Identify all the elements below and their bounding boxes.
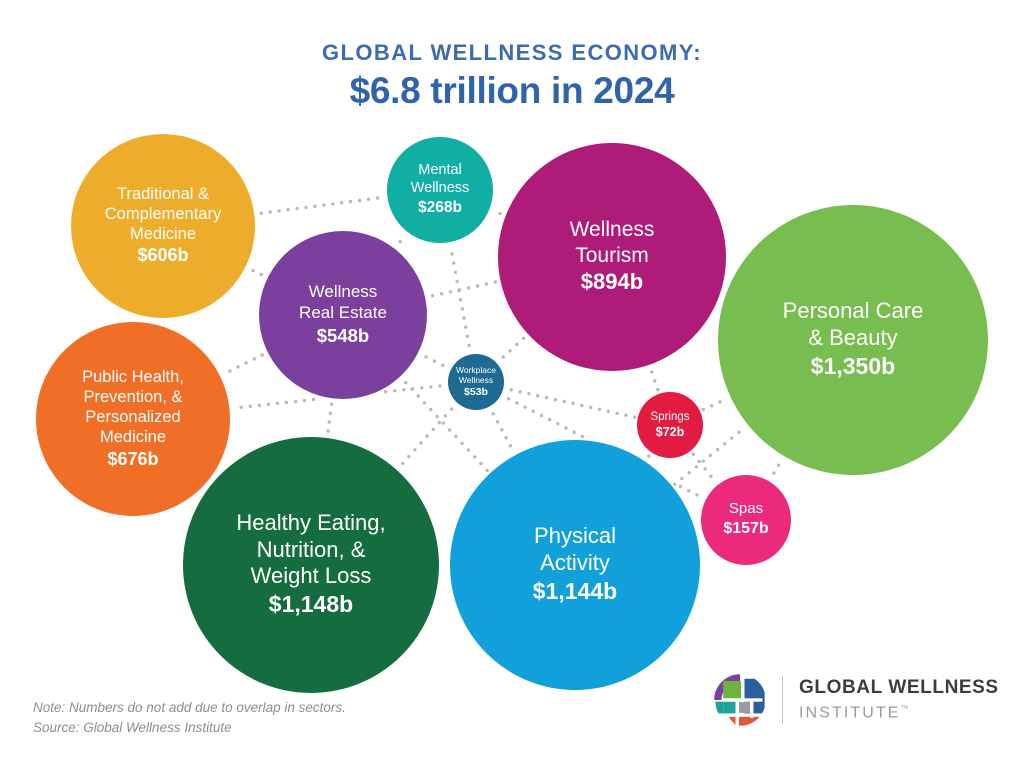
bubble-value: $72b — [656, 424, 685, 440]
bubble-workplace-wellness[interactable]: WorkplaceWellness$53b — [448, 354, 504, 410]
bubble-personal-care-beauty[interactable]: Personal Care& Beauty$1,350b — [718, 205, 988, 475]
bubble-label: Personal Care& Beauty — [783, 298, 924, 352]
bubble-label: MentalWellness — [411, 162, 470, 197]
bubble-label: WellnessTourism — [570, 217, 655, 268]
footnote-source: Source: Global Wellness Institute — [33, 718, 346, 738]
logo-wordmark: GLOBAL WELLNESS INSTITUTE™ — [799, 677, 999, 722]
trademark-symbol: ™ — [901, 704, 909, 713]
footnote: Note: Numbers do not add due to overlap … — [33, 698, 346, 738]
bubble-value: $606b — [137, 244, 188, 267]
bubble-label: Traditional &ComplementaryMedicine — [105, 184, 221, 244]
bubble-traditional-medicine[interactable]: Traditional &ComplementaryMedicine$606b — [71, 134, 255, 318]
footnote-note: Note: Numbers do not add due to overlap … — [33, 698, 346, 718]
bubble-value: $1,148b — [269, 590, 353, 620]
bubble-value: $53b — [464, 386, 488, 400]
bubble-value: $548b — [317, 324, 369, 348]
bubble-value: $1,350b — [811, 352, 895, 382]
bubble-label: Spas — [729, 500, 763, 518]
bubble-value: $1,144b — [533, 577, 617, 607]
gwi-logo-mark — [712, 672, 768, 728]
bubble-wellness-real-estate[interactable]: WellnessReal Estate$548b — [259, 231, 427, 399]
bubble-value: $157b — [723, 519, 768, 540]
logo-text-institute: INSTITUTE™ — [799, 699, 999, 722]
bubble-label: WorkplaceWellness — [456, 365, 496, 386]
bubble-public-health[interactable]: Public Health,Prevention, &PersonalizedM… — [36, 322, 230, 516]
bubble-label: PhysicalActivity — [534, 523, 616, 577]
bubble-label: WellnessReal Estate — [299, 282, 387, 323]
bubble-label: Public Health,Prevention, &PersonalizedM… — [82, 367, 184, 448]
bubble-mental-wellness[interactable]: MentalWellness$268b — [387, 137, 493, 243]
bubble-physical-activity[interactable]: PhysicalActivity$1,144b — [450, 440, 700, 690]
bubble-healthy-eating[interactable]: Healthy Eating,Nutrition, &Weight Loss$1… — [183, 437, 439, 693]
bubble-spas[interactable]: Spas$157b — [701, 475, 791, 565]
infographic-canvas: GLOBAL WELLNESS ECONOMY: $6.8 trillion i… — [0, 0, 1024, 768]
bubble-label: Healthy Eating,Nutrition, &Weight Loss — [236, 510, 385, 591]
gwi-logo: GLOBAL WELLNESS INSTITUTE™ — [712, 672, 999, 728]
logo-divider — [782, 676, 783, 724]
logo-text-global-wellness: GLOBAL WELLNESS — [799, 677, 999, 699]
bubble-value: $676b — [107, 448, 158, 471]
bubble-value: $268b — [418, 198, 462, 218]
bubble-value: $894b — [581, 268, 643, 297]
bubble-wellness-tourism[interactable]: WellnessTourism$894b — [498, 143, 726, 371]
bubble-label: Springs — [651, 410, 690, 424]
bubble-springs[interactable]: Springs$72b — [637, 392, 703, 458]
